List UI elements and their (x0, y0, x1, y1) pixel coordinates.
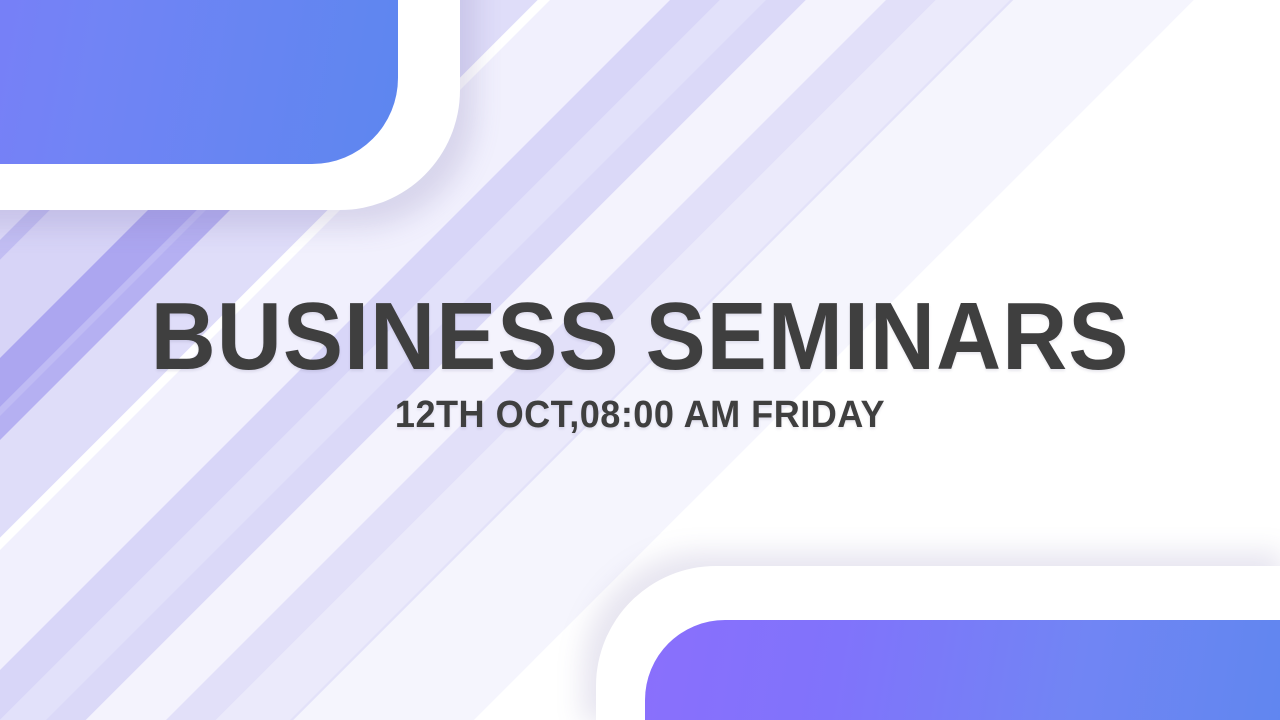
event-poster-canvas: BUSINESS SEMINARS 12TH OCT,08:00 AM FRID… (0, 0, 1280, 720)
event-date-time-subtitle: 12TH OCT,08:00 AM FRIDAY (32, 396, 1248, 434)
event-title: BUSINESS SEMINARS (38, 292, 1241, 382)
bottom-right-gradient-plate (645, 620, 1280, 720)
top-left-gradient-plate (0, 0, 398, 164)
event-text-block: BUSINESS SEMINARS 12TH OCT,08:00 AM FRID… (0, 292, 1280, 434)
